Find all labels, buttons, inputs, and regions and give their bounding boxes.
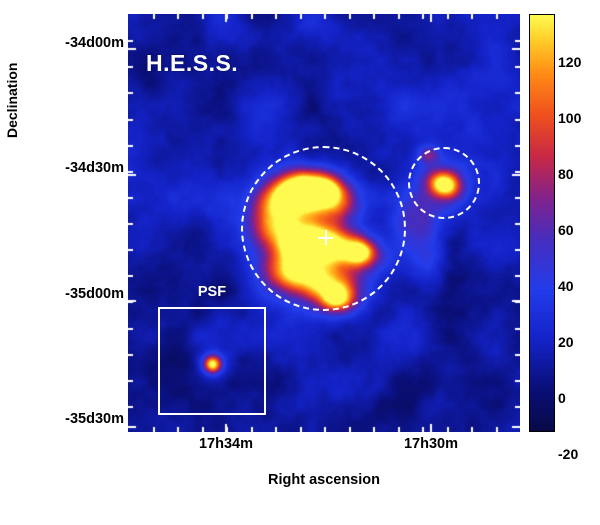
colorbar-tick-label: 120: [558, 54, 581, 70]
x-axis-title: Right ascension: [128, 472, 520, 488]
colorbar-tick-label: -20: [558, 446, 578, 462]
x-tick-label: 17h34m: [199, 436, 253, 452]
colorbar-tick-label: 40: [558, 278, 574, 294]
y-tick-label: -34d00m: [28, 35, 124, 51]
colorbar-tick-label: 0: [558, 390, 566, 406]
y-axis-title-text: Declination: [4, 63, 20, 138]
secondary-region-circle: [408, 147, 480, 219]
colorbar-tick-label: 60: [558, 222, 574, 238]
y-tick-label: -35d00m: [28, 286, 124, 302]
y-axis-ticks: -34d00m -34d30m -35d00m -35d30m: [24, 0, 124, 525]
source-marker-icon: [318, 230, 333, 245]
colorbar-gradient: [529, 14, 555, 432]
y-axis-title: Declination: [4, 118, 20, 138]
colorbar-tick-label: 80: [558, 166, 574, 182]
colorbar: [529, 14, 555, 432]
psf-inset-box: [158, 307, 266, 415]
psf-label: PSF: [158, 284, 266, 300]
y-tick-label: -35d30m: [28, 411, 124, 427]
x-axis-ticks: 17h34m 17h30m: [128, 436, 520, 460]
colorbar-tick-label: 100: [558, 110, 581, 126]
colorbar-tick-label: 20: [558, 334, 574, 350]
x-tick-label: 17h30m: [404, 436, 458, 452]
survey-label: H.E.S.S.: [146, 50, 238, 77]
y-tick-label: -34d30m: [28, 160, 124, 176]
sky-map-panel: H.E.S.S. PSF: [128, 14, 520, 432]
figure-root: Declination -34d00m -34d30m -35d00m -35d…: [0, 0, 600, 525]
colorbar-ticks: 120 100 80 60 40 20 0 -20: [558, 14, 600, 432]
colorbar-canvas: [530, 15, 554, 431]
